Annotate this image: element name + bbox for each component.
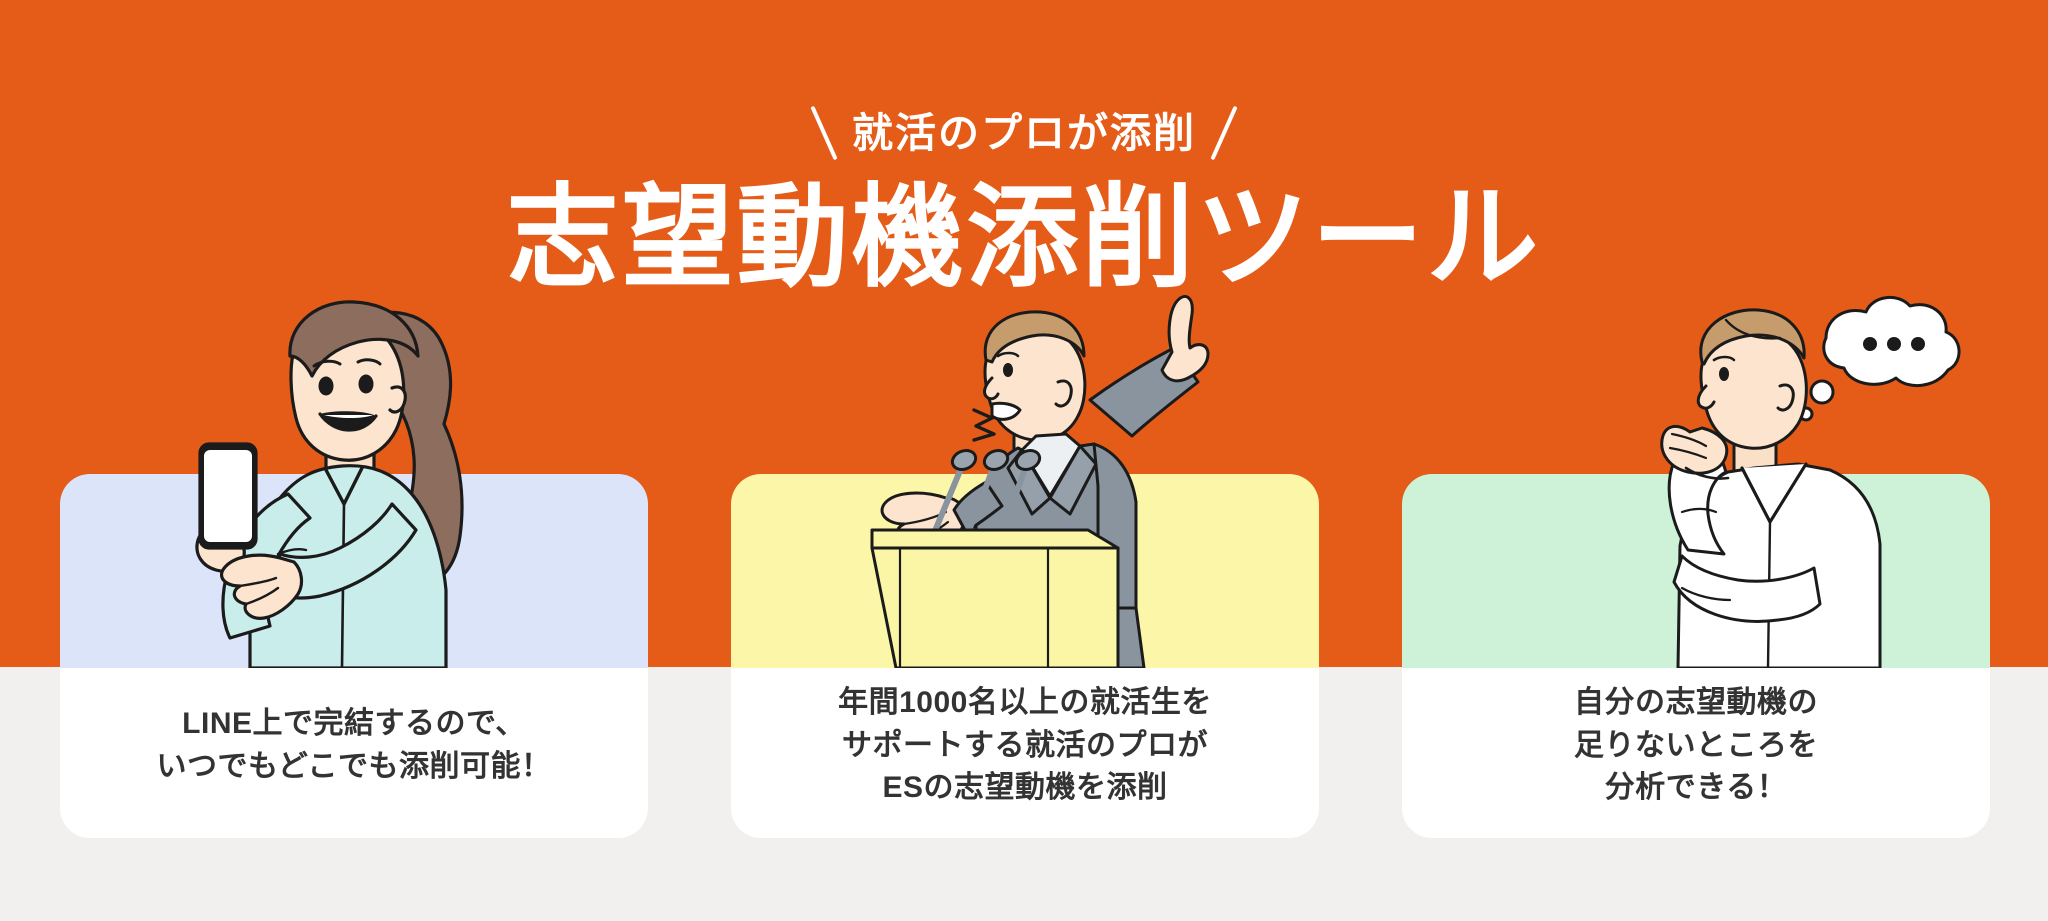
- feature-card-list: LINE上で完結するので、 いつでもどこでも添削可能！ 年間1000名以上の就活…: [60, 474, 1990, 838]
- card-3-line-1: 自分の志望動機の: [1574, 682, 1818, 725]
- feature-card-pro[interactable]: 年間1000名以上の就活生を サポートする就活のプロが ESの志望動機を添削: [731, 474, 1319, 838]
- card-2-line-2: サポートする就活のプロが: [838, 725, 1212, 768]
- card-text-2: 年間1000名以上の就活生を サポートする就活のプロが ESの志望動機を添削: [838, 682, 1212, 810]
- hero-eyebrow: 就活のプロが添削: [0, 104, 2048, 162]
- card-2-line-1: 年間1000名以上の就活生を: [838, 682, 1212, 725]
- card-art-area-2: [731, 474, 1319, 668]
- slash-right-icon: [1210, 106, 1237, 161]
- feature-card-line[interactable]: LINE上で完結するので、 いつでもどこでも添削可能！: [60, 474, 648, 838]
- card-art-area-3: [1402, 474, 1990, 668]
- card-body-1: LINE上で完結するので、 いつでもどこでも添削可能！: [60, 668, 648, 838]
- card-body-2: 年間1000名以上の就活生を サポートする就活のプロが ESの志望動機を添削: [731, 668, 1319, 838]
- card-body-3: 自分の志望動機の 足りないところを 分析できる！: [1402, 668, 1990, 838]
- card-text-1: LINE上で完結するので、 いつでもどこでも添削可能！: [157, 703, 552, 788]
- card-art-area-1: [60, 474, 648, 668]
- card-3-line-2: 足りないところを: [1574, 725, 1818, 768]
- card-3-line-3: 分析できる！: [1574, 767, 1818, 810]
- feature-card-analysis[interactable]: 自分の志望動機の 足りないところを 分析できる！: [1402, 474, 1990, 838]
- slash-left-icon: [810, 106, 837, 161]
- hero-eyebrow-text: 就活のプロが添削: [852, 113, 1196, 154]
- landing-hero-page: 就活のプロが添削 志望動機添削ツール LINE上で完結するので、 いつでもどこで…: [0, 0, 2048, 921]
- card-1-line-1: LINE上で完結するので、: [157, 703, 552, 746]
- card-text-3: 自分の志望動機の 足りないところを 分析できる！: [1574, 682, 1818, 810]
- page-title: 志望動機添削ツール: [0, 178, 2048, 299]
- card-2-line-3: ESの志望動機を添削: [838, 767, 1212, 810]
- card-1-line-2: いつでもどこでも添削可能！: [157, 746, 552, 789]
